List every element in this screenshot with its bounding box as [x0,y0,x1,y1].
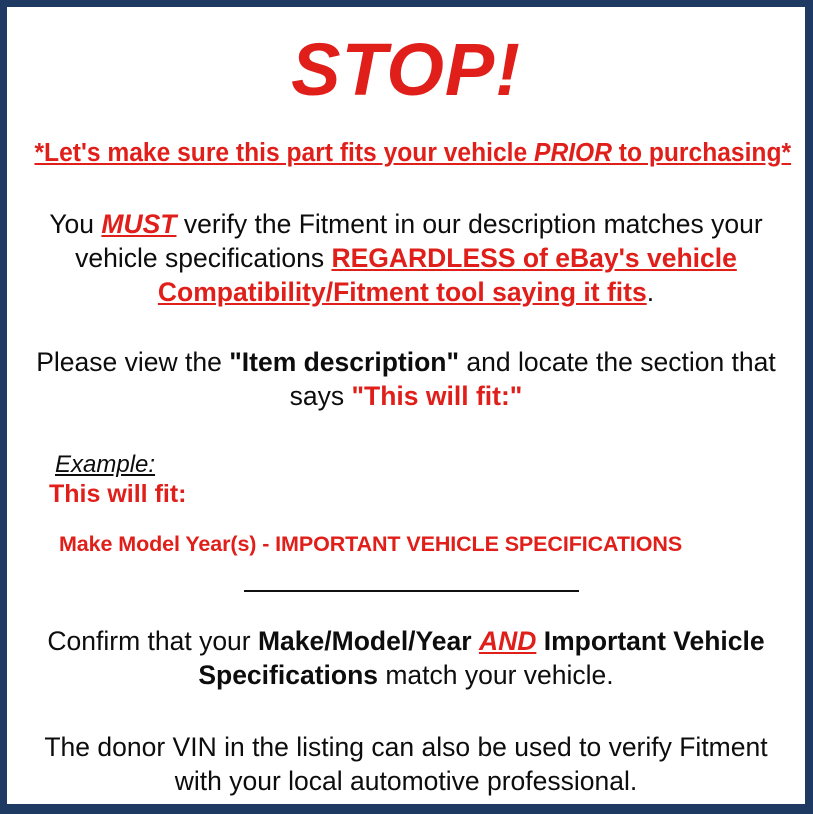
and-keyword: AND [479,626,536,656]
must-seg-lead: You [49,209,101,239]
confirm-space-2 [536,626,543,656]
example-spec-line: Make Model Year(s) - IMPORTANT VEHICLE S… [59,532,791,557]
must-keyword: MUST [101,209,176,239]
page-title: STOP! [21,33,791,107]
make-model-year-label: Make/Model/Year [258,626,472,656]
divider-line [244,590,579,592]
vin-line-1: The donor VIN in the listing can also be… [44,732,767,762]
please-view-paragraph: Please view the "Item description" and l… [21,346,791,414]
example-fit-heading: This will fit: [49,480,791,509]
vin-paragraph: The donor VIN in the listing can also be… [21,731,791,799]
example-label: Example: [55,452,791,479]
must-seg-period: . [647,277,654,307]
confirm-paragraph: Confirm that your Make/Model/Year AND Im… [21,625,791,693]
this-will-fit-label: "This will fit:" [351,381,522,411]
confirm-seg-lead: Confirm that your [47,626,258,656]
confirm-seg-tail: match your vehicle. [378,660,614,690]
fitment-notice-card: STOP! *Let's make sure this part fits yo… [0,0,813,814]
must-verify-paragraph: You MUST verify the Fitment in our descr… [21,208,791,310]
subtitle-banner: *Let's make sure this part fits your veh… [34,139,777,168]
example-block: Example: This will fit: Make Model Year(… [21,452,791,557]
item-description-label: "Item description" [229,347,459,377]
subtitle-emphasis-prior: PRIOR [534,139,612,167]
notice-content: STOP! *Let's make sure this part fits yo… [7,33,805,814]
section-divider [21,579,791,593]
subtitle-lead-text: *Let's make sure this part fits your veh… [34,139,534,167]
confirm-space-1 [472,626,479,656]
subtitle-tail-text: to purchasing* [612,139,791,167]
vin-line-2: with your local automotive professional. [175,766,638,796]
please-seg-lead: Please view the [36,347,229,377]
